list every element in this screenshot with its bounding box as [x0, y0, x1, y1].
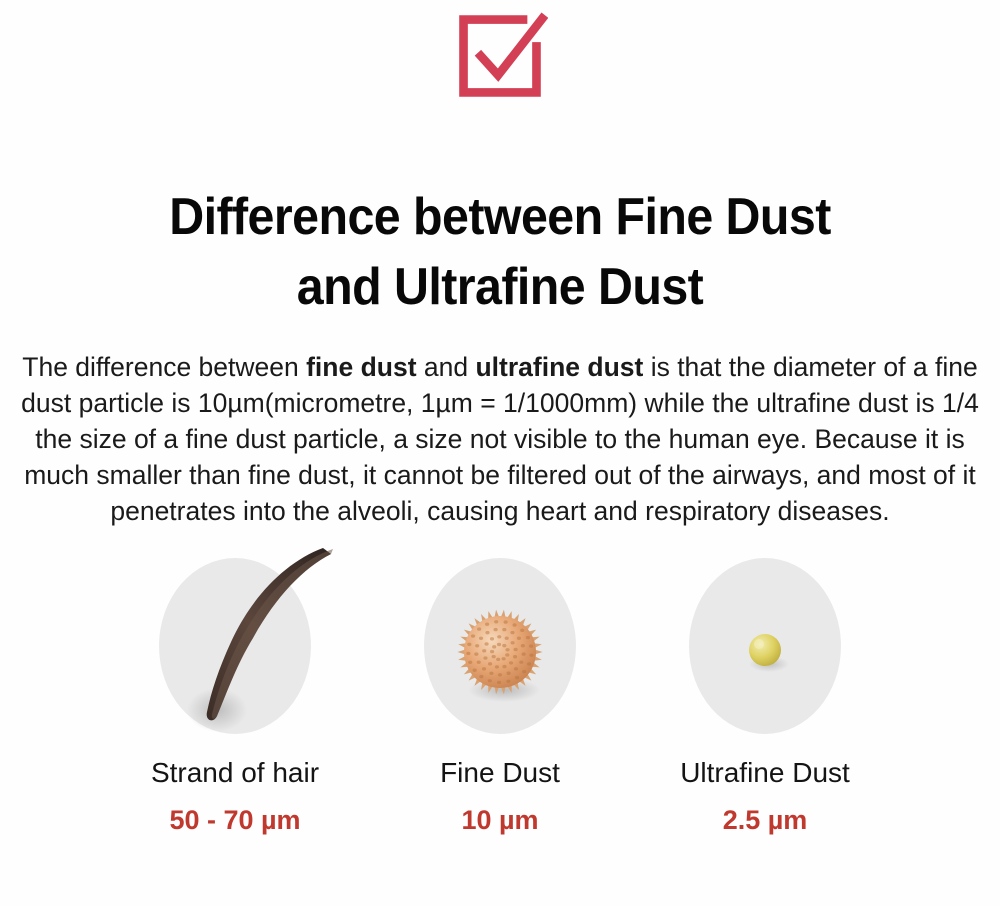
- page-title-line-1: Difference between Fine Dust: [35, 183, 965, 253]
- specimen-fine-dust: Fine Dust 10 µm: [368, 540, 633, 836]
- fine-dust-disc-area: [400, 540, 600, 755]
- specimen-comparison-row: Strand of hair 50 - 70 µm: [0, 540, 1000, 880]
- header-icon-container: [0, 8, 1000, 108]
- hair-size-value: 50 - 70 µm: [169, 805, 300, 836]
- checkbox-checked-icon: [452, 8, 548, 104]
- specimen-ultrafine-dust: Ultrafine Dust 2.5 µm: [633, 540, 898, 836]
- paragraph-segment-2: and: [417, 352, 476, 382]
- hair-strand-illustration: [135, 540, 335, 755]
- page-title-line-2: and Ultrafine Dust: [35, 253, 965, 323]
- page-title: Difference between Fine Dust and Ultrafi…: [35, 183, 965, 322]
- fine-dust-particle-illustration: [400, 540, 600, 755]
- hair-label: Strand of hair: [151, 757, 319, 789]
- hair-disc-area: [135, 540, 335, 755]
- paragraph-bold-ultrafine-dust: ultrafine dust: [475, 352, 643, 382]
- ultrafine-dust-particle-illustration: [665, 540, 865, 755]
- ultrafine-dust-disc-area: [665, 540, 865, 755]
- specimen-strand-of-hair: Strand of hair 50 - 70 µm: [103, 540, 368, 836]
- paragraph-segment-1: The difference between: [22, 352, 306, 382]
- paragraph-bold-fine-dust: fine dust: [306, 352, 416, 382]
- ultrafine-dust-size-value: 2.5 µm: [723, 805, 808, 836]
- infographic-page: { "icon": { "name": "checkbox-checked-ic…: [0, 0, 1000, 906]
- fine-dust-size-value: 10 µm: [461, 805, 538, 836]
- ultrafine-dust-label: Ultrafine Dust: [680, 757, 850, 789]
- fine-dust-label: Fine Dust: [440, 757, 560, 789]
- body-paragraph: The difference between fine dust and ult…: [6, 349, 994, 529]
